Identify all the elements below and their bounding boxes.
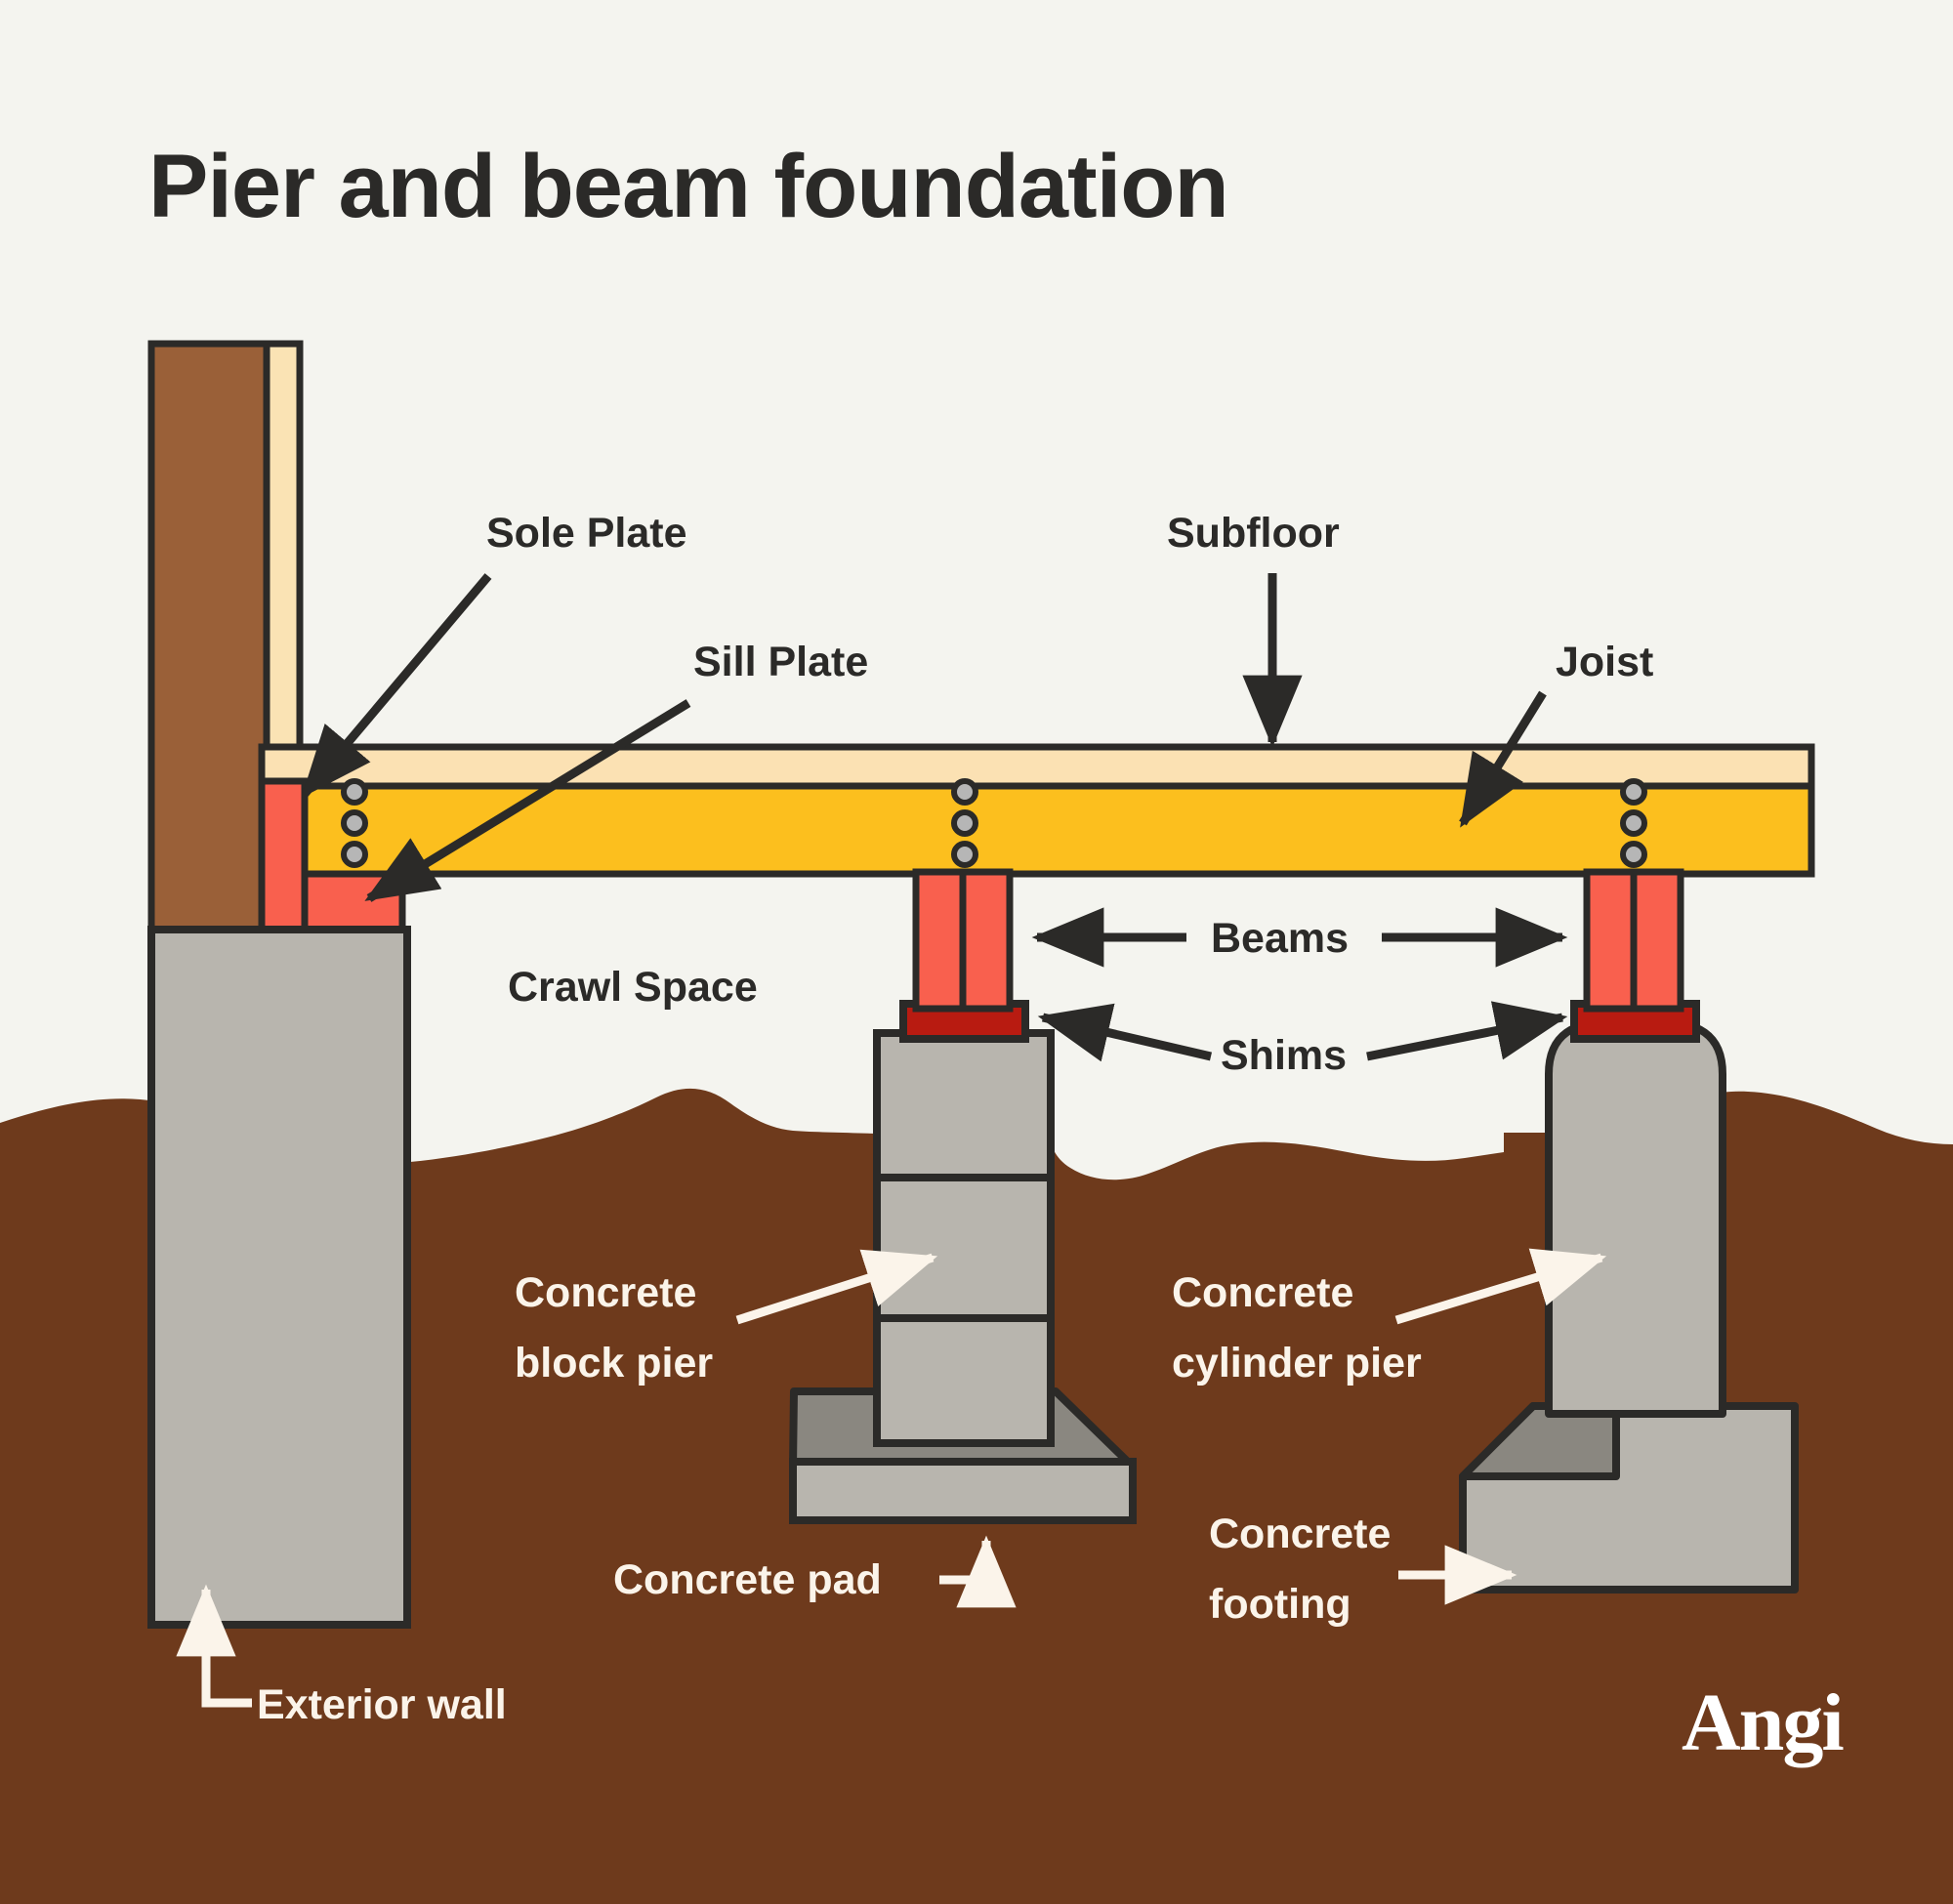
angi-logo[interactable]: Angi bbox=[1682, 1677, 1844, 1768]
nail-dot bbox=[1623, 781, 1644, 803]
label-line: Concrete bbox=[1209, 1511, 1391, 1557]
label-sill-plate: Sill Plate bbox=[693, 639, 868, 685]
label-line: Concrete bbox=[1172, 1269, 1353, 1316]
nail-dot bbox=[344, 844, 365, 865]
concrete-pad-slab bbox=[793, 1462, 1133, 1520]
label-line: footing bbox=[1209, 1581, 1351, 1628]
label-subfloor: Subfloor bbox=[1167, 510, 1340, 557]
nail-dot bbox=[954, 844, 976, 865]
label-joist: Joist bbox=[1556, 639, 1653, 685]
angi-logo-text: Angi bbox=[1682, 1677, 1844, 1768]
beam-post-left bbox=[916, 872, 963, 1009]
label-beams: Beams bbox=[1211, 915, 1349, 962]
joist-beam bbox=[262, 786, 1811, 874]
pier-and-beam-foundation-illustration: Pier and beam foundation Sole Plate Sill… bbox=[0, 0, 1953, 1904]
beam-post-right bbox=[1634, 872, 1681, 1009]
diagram-canvas: Pier and beam foundation Sole Plate Sill… bbox=[0, 0, 1953, 1904]
nail-dot bbox=[344, 812, 365, 834]
subfloor-board bbox=[262, 747, 1811, 786]
concrete-cylinder-pier bbox=[1549, 1020, 1723, 1414]
beam-post-right bbox=[963, 872, 1010, 1009]
label-line: block pier bbox=[515, 1340, 713, 1387]
concrete-block-upper bbox=[877, 1033, 1051, 1178]
foundation-wall-concrete bbox=[151, 930, 407, 1625]
concrete-block-lower bbox=[877, 1316, 1051, 1443]
sole-plate bbox=[262, 781, 305, 930]
nail-dot bbox=[954, 781, 976, 803]
nail-dot bbox=[344, 781, 365, 803]
nail-dot bbox=[954, 812, 976, 834]
label-exterior-wall: Exterior wall bbox=[257, 1681, 507, 1728]
label-sole-plate: Sole Plate bbox=[486, 510, 687, 557]
label-crawl-space: Crawl Space bbox=[508, 964, 758, 1011]
label-concrete-pad: Concrete pad bbox=[613, 1556, 882, 1603]
page-title: Pier and beam foundation bbox=[148, 137, 1228, 236]
nail-dot bbox=[1623, 844, 1644, 865]
label-line: cylinder pier bbox=[1172, 1340, 1422, 1387]
concrete-block-middle bbox=[877, 1177, 1051, 1318]
label-shims: Shims bbox=[1221, 1032, 1347, 1079]
nail-dot bbox=[1623, 812, 1644, 834]
label-line: Concrete bbox=[515, 1269, 696, 1316]
exterior-wall-sheathing-brown bbox=[151, 344, 267, 930]
beam-post-left bbox=[1587, 872, 1634, 1009]
